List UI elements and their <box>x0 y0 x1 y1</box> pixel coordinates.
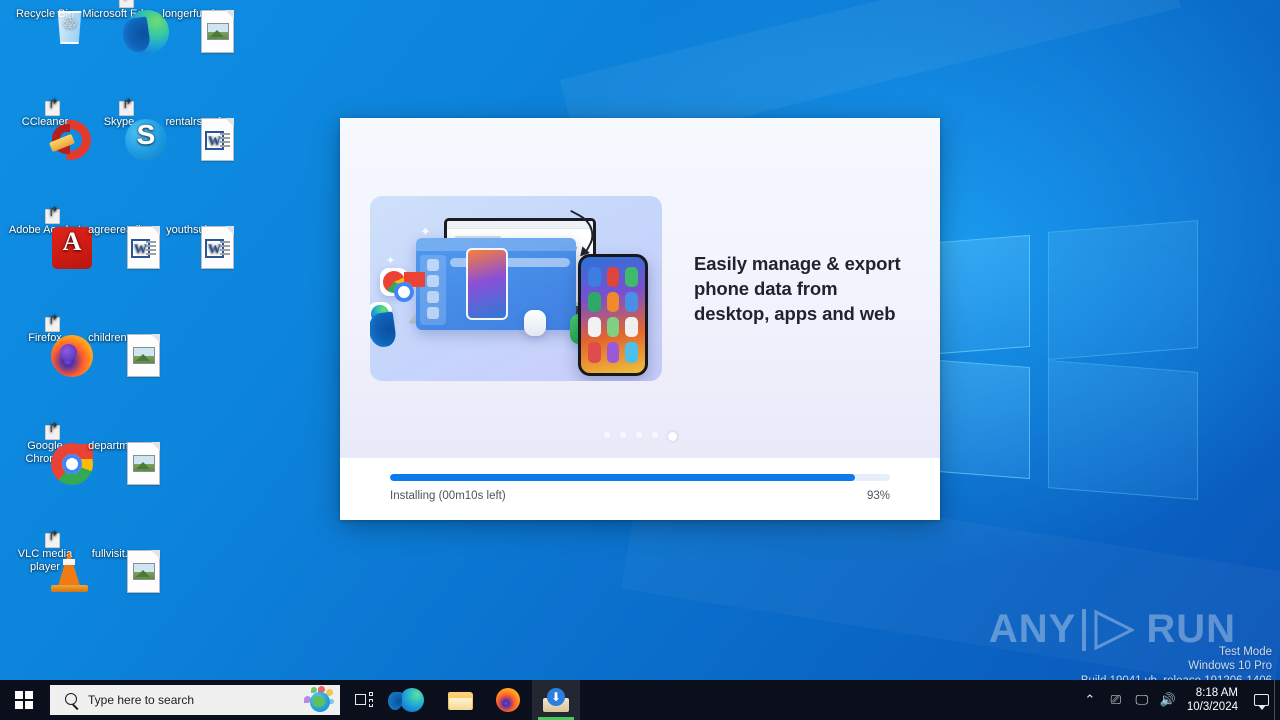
carousel-dot[interactable] <box>604 432 610 438</box>
show-desktop-button[interactable] <box>1274 680 1280 720</box>
search-placeholder: Type here to search <box>88 693 332 707</box>
desktop-icon-skype[interactable]: Skype <box>82 116 156 129</box>
desktop-icon-ccleaner[interactable]: CCleaner <box>8 116 82 129</box>
file-explorer-icon <box>448 690 473 711</box>
task-view-button[interactable] <box>340 680 388 720</box>
desktop-icon-agreereadi[interactable]: Wagreereadi... <box>82 224 156 237</box>
progress-status-row: Installing (00m10s left) 93% <box>390 490 890 502</box>
volume-icon[interactable]: 🔊 <box>1155 680 1181 720</box>
carousel-dot-active[interactable] <box>668 432 677 441</box>
search-icon <box>64 692 80 708</box>
clock-time: 8:18 AM <box>1187 686 1238 700</box>
taskbar-installer[interactable] <box>532 680 580 720</box>
desktop-icon-adobe-acrobat[interactable]: Adobe Acrobat <box>8 224 82 237</box>
desktop[interactable]: Recycle BinMicrosoft Edgelongerfund...CC… <box>0 0 1280 720</box>
shortcut-overlay-icon <box>45 317 60 332</box>
wallpaper-window-pane <box>1048 360 1198 500</box>
promo-headline: Easily manage & export phone data from d… <box>694 251 910 326</box>
desktop-icon-childrenwe[interactable]: childrenwe... <box>82 332 156 345</box>
chevron-up-icon[interactable]: ⌃ <box>1077 680 1103 720</box>
shortcut-overlay-icon <box>45 425 60 440</box>
sparkle-icon: ✦ <box>386 254 395 267</box>
firefox-icon <box>496 688 520 712</box>
mouse-badge-icon <box>524 310 546 336</box>
installer-progress-area: Installing (00m10s left) 93% <box>340 458 940 520</box>
taskbar-file-explorer[interactable] <box>436 680 484 720</box>
chrome-badge-icon <box>380 268 408 296</box>
shortcut-overlay-icon <box>45 533 60 548</box>
watermark-line-1: Test Mode <box>1081 645 1272 660</box>
installer-window[interactable]: ✦ ✦ ✦ <box>340 118 940 520</box>
microsoft-edge-icon <box>400 688 424 712</box>
desktop-icon-vlc-media-player[interactable]: VLC media player <box>8 548 82 573</box>
desktop-icon-youthsub[interactable]: Wyouthsub... <box>156 224 230 237</box>
phone-to-desktop-transfer-illustration: ✦ ✦ ✦ <box>370 196 662 381</box>
desktop-icon-rentalrss-rtf[interactable]: Wrentalrss.rtf <box>156 116 230 129</box>
play-triangle-svg <box>1094 610 1134 650</box>
shortcut-overlay-icon <box>119 101 134 116</box>
camera-icon[interactable]: ⎚ <box>1103 680 1129 720</box>
task-view-icon <box>355 692 374 708</box>
taskbar-microsoft-edge[interactable] <box>388 680 436 720</box>
desktop-icon-microsoft-edge[interactable]: Microsoft Edge <box>82 8 156 21</box>
anyrun-logo: ANY RUN <box>989 607 1236 652</box>
desktop-icon-fullvisit-png[interactable]: fullvisit.png <box>82 548 156 561</box>
carousel-dot[interactable] <box>652 432 658 438</box>
desktop-icon-firefox[interactable]: Firefox <box>8 332 82 345</box>
desktop-icon-departmen[interactable]: departmen... <box>82 440 156 453</box>
action-center-icon[interactable] <box>1248 680 1274 720</box>
anyrun-logo-text-run: RUN <box>1146 607 1236 652</box>
play-triangle-icon <box>1082 609 1140 651</box>
installer-slide-area: ✦ ✦ ✦ <box>340 118 940 458</box>
edge-badge-icon <box>370 302 392 326</box>
windows-start-icon[interactable] <box>0 680 48 720</box>
system-tray[interactable]: ⌃ ⎚ 🖵 🔊 8:18 AM 10/3/2024 <box>1077 680 1280 720</box>
watermark-line-2: Windows 10 Pro <box>1081 659 1272 674</box>
shortcut-overlay-icon <box>119 0 134 8</box>
desktop-icon-google-chrome[interactable]: Google Chrome <box>8 440 82 465</box>
search-input[interactable]: Type here to search <box>50 685 340 715</box>
progress-percent-label: 93% <box>867 490 890 502</box>
wallpaper-window-pane <box>925 235 1030 355</box>
wallpaper-window-pane <box>1048 220 1198 360</box>
progress-bar-track <box>390 474 890 481</box>
progress-status-text: Installing (00m10s left) <box>390 490 506 502</box>
taskbar-clock[interactable]: 8:18 AM 10/3/2024 <box>1181 686 1248 714</box>
smartphone-icon <box>578 254 648 376</box>
carousel-dot[interactable] <box>620 432 626 438</box>
floating-phone-screen-icon <box>466 248 508 320</box>
desktop-icon-longerfund[interactable]: longerfund... <box>156 8 230 21</box>
shortcut-overlay-icon <box>45 209 60 224</box>
clock-date: 10/3/2024 <box>1187 700 1238 714</box>
desktop-icon-recycle-bin[interactable]: Recycle Bin <box>8 8 82 21</box>
progress-bar-fill <box>390 474 855 481</box>
carousel-dots[interactable] <box>340 432 940 441</box>
taskbar[interactable]: Type here to search <box>0 680 1280 720</box>
carousel-dot[interactable] <box>636 432 642 438</box>
anyrun-logo-text-any: ANY <box>989 607 1076 652</box>
globe-icon <box>304 687 334 713</box>
network-icon[interactable]: 🖵 <box>1129 680 1155 720</box>
taskbar-firefox[interactable] <box>484 680 532 720</box>
wallpaper-window-pane <box>925 359 1030 479</box>
shortcut-overlay-icon <box>45 101 60 116</box>
installer-package-icon <box>543 688 569 712</box>
